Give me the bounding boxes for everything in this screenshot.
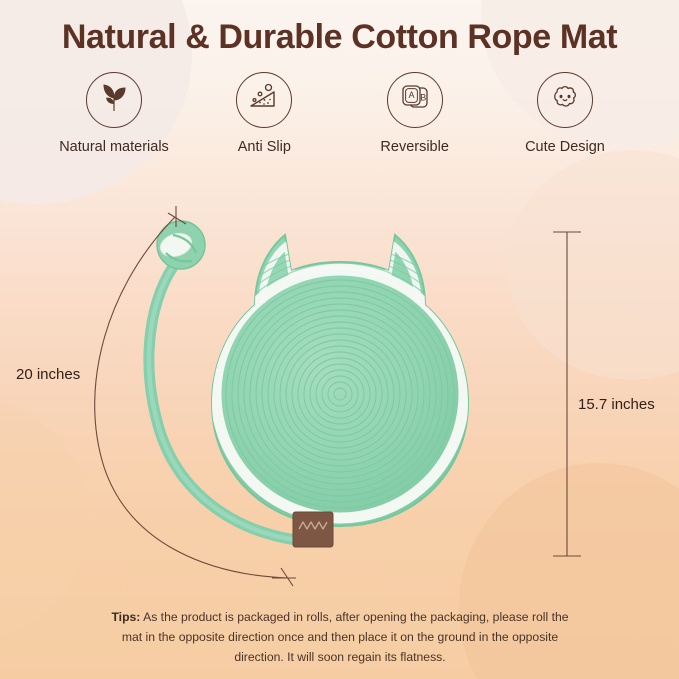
feature-icon-frame bbox=[86, 72, 142, 128]
feature-icon-frame: A B bbox=[387, 72, 443, 128]
feature-label: Cute Design bbox=[525, 139, 605, 155]
slope-anti-slip-icon bbox=[247, 81, 281, 120]
tips-text: As the product is packaged in rolls, aft… bbox=[122, 610, 569, 664]
mat-diameter-label: 15.7 inches bbox=[578, 396, 655, 413]
cute-cloud-face-icon bbox=[547, 80, 583, 121]
rope-length-label: 20 inches bbox=[16, 366, 80, 383]
cat-shaped-rope-mat bbox=[191, 235, 489, 543]
product-illustration bbox=[0, 175, 679, 605]
feature-label: Reversible bbox=[380, 139, 449, 155]
two-sided-ab-icon: A B bbox=[397, 80, 433, 121]
feature-icon-frame bbox=[236, 72, 292, 128]
feature-natural-materials: Natural materials bbox=[40, 72, 188, 155]
feature-label: Natural materials bbox=[59, 139, 169, 155]
feature-cute-design: Cute Design bbox=[491, 72, 639, 155]
page-title: Natural & Durable Cotton Rope Mat bbox=[0, 18, 679, 57]
feature-reversible: A B Reversible bbox=[341, 72, 489, 155]
feature-list: Natural materials bbox=[40, 72, 639, 155]
feature-label: Anti Slip bbox=[238, 139, 291, 155]
tips-prefix: Tips: bbox=[111, 610, 140, 624]
reversible-side-a-label: A bbox=[408, 90, 414, 100]
feature-icon-frame bbox=[537, 72, 593, 128]
leaf-sprout-icon bbox=[97, 81, 131, 120]
product-infographic: Natural & Durable Cotton Rope Mat Natura… bbox=[0, 0, 679, 679]
feature-anti-slip: Anti Slip bbox=[190, 72, 338, 155]
reversible-side-b-label: B bbox=[420, 92, 426, 102]
dimension-line-mat-diameter bbox=[553, 232, 581, 556]
tips-note: Tips: As the product is packaged in roll… bbox=[108, 608, 572, 667]
leather-brand-tag bbox=[293, 512, 333, 547]
